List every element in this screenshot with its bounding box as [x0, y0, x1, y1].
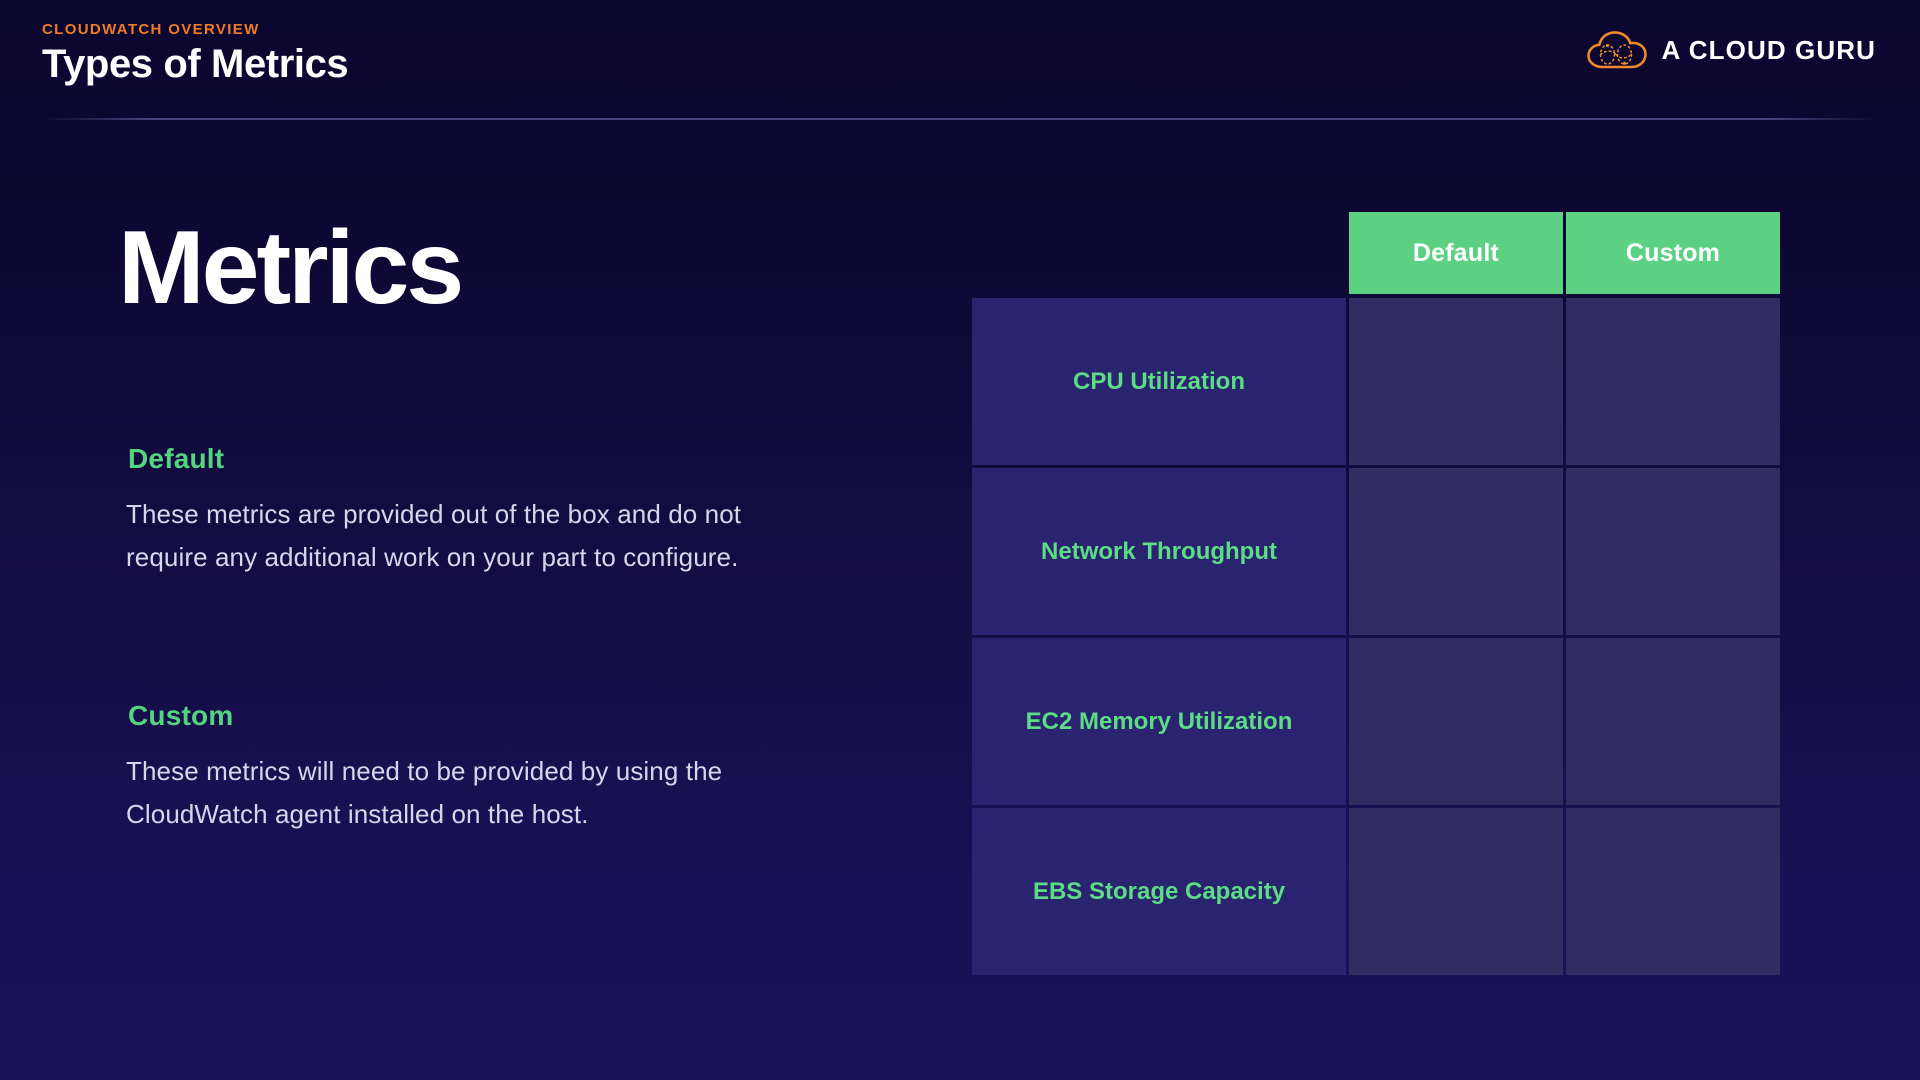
matrix-cell-default[interactable]: [1349, 298, 1563, 465]
matrix-cell-default[interactable]: [1349, 638, 1563, 805]
metrics-matrix: Default Custom CPU Utilization Network T…: [972, 212, 1774, 962]
custom-block-body: These metrics will need to be provided b…: [126, 750, 766, 836]
matrix-row-label: EC2 Memory Utilization: [972, 638, 1346, 805]
matrix-column-header-custom[interactable]: Custom: [1566, 212, 1780, 294]
brand-name: A CLOUD GURU: [1662, 35, 1876, 66]
matrix-header-row: Default Custom: [1346, 212, 1780, 294]
table-row: Network Throughput: [972, 468, 1780, 635]
table-row: EC2 Memory Utilization: [972, 638, 1780, 805]
matrix-row-label: CPU Utilization: [972, 298, 1346, 465]
left-content-column: Metrics Default These metrics are provid…: [0, 0, 960, 1080]
matrix-row-label: Network Throughput: [972, 468, 1346, 635]
matrix-cell-default[interactable]: [1349, 808, 1563, 975]
brand-lockup: A CLOUD GURU: [1586, 30, 1876, 70]
table-row: EBS Storage Capacity: [972, 808, 1780, 975]
matrix-cell-default[interactable]: [1349, 468, 1563, 635]
default-block-body: These metrics are provided out of the bo…: [126, 493, 746, 579]
table-row: CPU Utilization: [972, 298, 1780, 465]
slide-root: CLOUDWATCH OVERVIEW Types of Metrics A C…: [0, 0, 1920, 1080]
matrix-row-label: EBS Storage Capacity: [972, 808, 1346, 975]
matrix-column-header-default[interactable]: Default: [1349, 212, 1563, 294]
matrix-cell-custom[interactable]: [1566, 808, 1780, 975]
cloud-icon: [1586, 30, 1648, 70]
section-heading: Metrics: [118, 216, 461, 320]
default-block-title: Default: [128, 443, 224, 475]
custom-block-title: Custom: [128, 700, 233, 732]
matrix-cell-custom[interactable]: [1566, 468, 1780, 635]
matrix-cell-custom[interactable]: [1566, 638, 1780, 805]
matrix-cell-custom[interactable]: [1566, 298, 1780, 465]
